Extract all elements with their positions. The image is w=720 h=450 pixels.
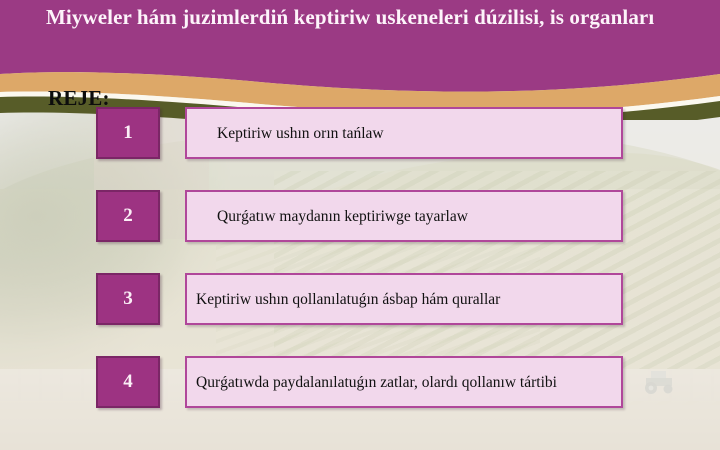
item-number-badge: 1	[96, 107, 160, 159]
list-item[interactable]: 1 Keptiriw ushın orın tańlaw	[0, 107, 720, 159]
list-item[interactable]: 4 Qurǵatıwda paydalanılatuǵın zatlar, ol…	[0, 356, 720, 408]
item-number-badge: 2	[96, 190, 160, 242]
slide-title: Miyweler hám juzimlerdiń keptiriw uskene…	[46, 4, 666, 30]
presentation-slide: Miyweler hám juzimlerdiń keptiriw uskene…	[0, 0, 720, 450]
item-text-box: Keptiriw ushın qollanılatuǵın ásbap hám …	[185, 273, 623, 325]
list-item[interactable]: 3 Keptiriw ushın qollanılatuǵın ásbap há…	[0, 273, 720, 325]
item-text-box: Qurǵatıwda paydalanılatuǵın zatlar, olar…	[185, 356, 623, 408]
item-text-box: Keptiriw ushın orın tańlaw	[185, 107, 623, 159]
item-number-badge: 4	[96, 356, 160, 408]
list-item[interactable]: 2 Qurǵatıw maydanın keptiriwge tayarlaw	[0, 190, 720, 242]
item-text-box: Qurǵatıw maydanın keptiriwge tayarlaw	[185, 190, 623, 242]
item-number-badge: 3	[96, 273, 160, 325]
